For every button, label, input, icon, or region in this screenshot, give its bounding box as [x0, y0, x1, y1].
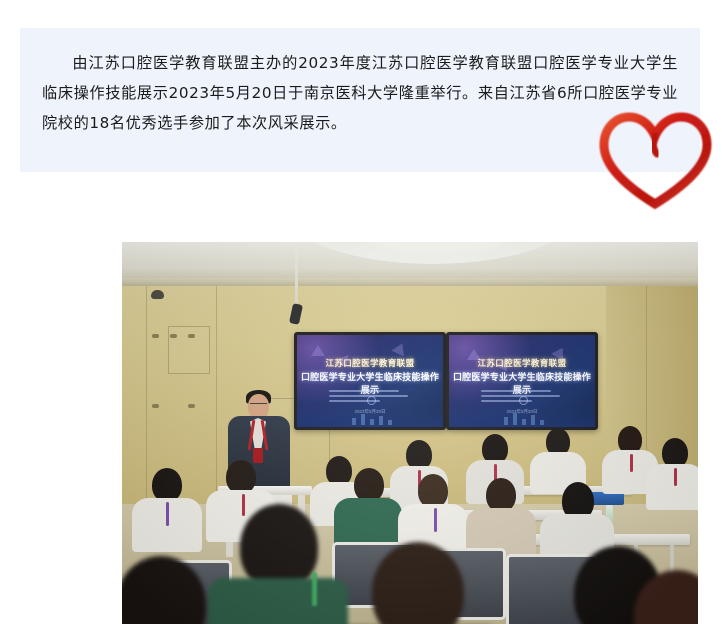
person-head	[226, 460, 256, 494]
person-body	[334, 498, 402, 548]
screen-bezel-bar	[486, 429, 559, 430]
screen-triangle	[311, 345, 325, 356]
screen-skyline	[297, 407, 443, 427]
intro-paragraph: 由江苏口腔医学教育联盟主办的2023年度江苏口腔医学教育联盟口腔医学专业大学生临…	[42, 48, 678, 138]
lanyard	[166, 502, 169, 526]
speaker-glasses	[250, 403, 267, 408]
screen-bezel-bar	[334, 429, 407, 430]
wall-hook	[188, 334, 195, 338]
screen-title: 江苏口腔医学教育联盟	[297, 357, 443, 369]
screen-logo-dot	[519, 396, 528, 405]
lanyard	[630, 454, 633, 472]
screen-triangle	[391, 341, 408, 357]
photo-scene: 江苏口腔医学教育联盟 口腔医学专业大学生临床技能操作展示 2023年5月20日 …	[122, 242, 698, 624]
wall-hook	[188, 404, 195, 408]
screen-logo-dot	[367, 396, 376, 405]
screen-skyline	[449, 407, 595, 427]
wall-hook	[152, 334, 159, 338]
intro-text-card: 由江苏口腔医学教育联盟主办的2023年度江苏口腔医学教育联盟口腔医学专业大学生临…	[20, 28, 700, 172]
lanyard	[674, 468, 677, 486]
wall-hook	[170, 334, 177, 338]
lanyard	[434, 508, 437, 532]
person-head	[418, 474, 448, 508]
lanyard	[242, 494, 245, 516]
wall-seam	[146, 286, 147, 506]
speaker-badge	[253, 448, 263, 463]
presentation-screen-right: 江苏口腔医学教育联盟 口腔医学专业大学生临床技能操作展示 2023年5月20日	[446, 332, 598, 430]
screen-title: 江苏口腔医学教育联盟	[449, 357, 595, 369]
microphone-cable	[295, 246, 298, 310]
person-head	[354, 468, 384, 502]
presentation-screen-left: 江苏口腔医学教育联盟 口腔医学专业大学生临床技能操作展示 2023年5月20日	[294, 332, 446, 430]
person-body	[208, 578, 348, 624]
lanyard	[312, 572, 317, 606]
ceiling-camera-icon	[151, 290, 164, 299]
person-body	[646, 464, 698, 510]
event-photograph: 江苏口腔医学教育联盟 口腔医学专业大学生临床技能操作展示 2023年5月20日 …	[122, 242, 698, 624]
wall-seam	[216, 286, 217, 506]
person-head	[152, 468, 182, 502]
wall-hook	[152, 404, 159, 408]
person-head	[486, 478, 516, 512]
